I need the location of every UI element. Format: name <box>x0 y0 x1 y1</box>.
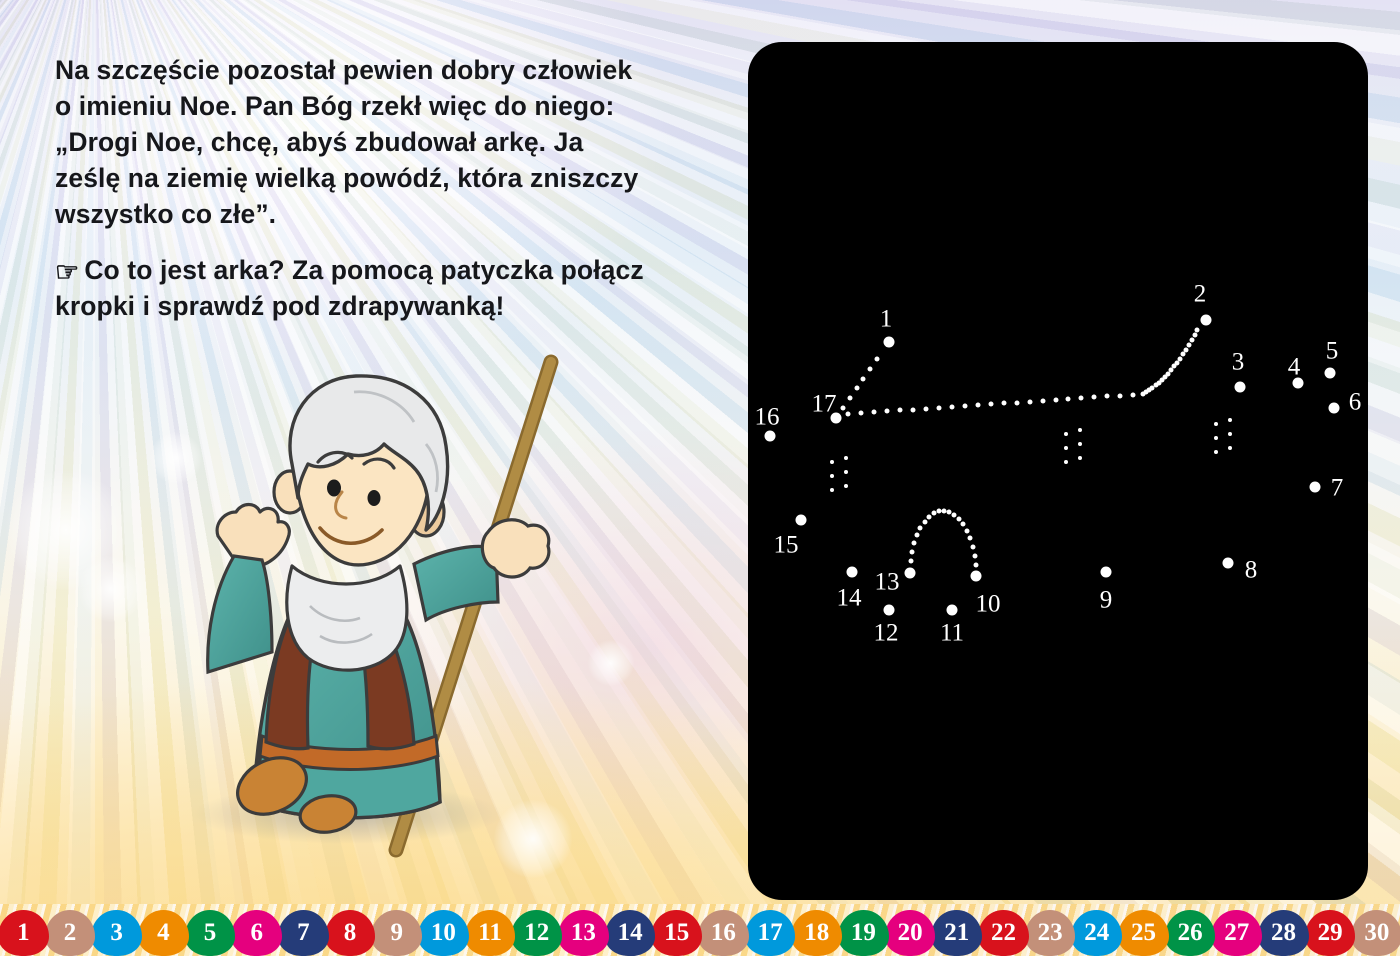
guide-path-dot <box>1027 399 1032 404</box>
story-paragraph-2: Co to jest arka? Za pomocą patyczka połą… <box>55 255 644 321</box>
guide-path-dot <box>1066 397 1071 402</box>
puzzle-dot-label-17: 17 <box>812 392 837 417</box>
guide-path-dot <box>1180 352 1185 357</box>
guide-path-dot <box>1177 356 1182 361</box>
guide-path-dot <box>912 540 917 545</box>
number-chip-26[interactable]: 26 <box>1165 910 1216 956</box>
puzzle-dot-label-2: 2 <box>1194 282 1207 307</box>
cluster-right-dot <box>1228 418 1232 422</box>
puzzle-dot-5[interactable] <box>1325 368 1336 379</box>
cluster-right-dot <box>1214 436 1218 440</box>
guide-path-dot <box>923 406 928 411</box>
cluster-right-dot <box>1214 422 1218 426</box>
cluster-middle-dot <box>1078 456 1082 460</box>
guide-path-dot <box>972 553 977 558</box>
guide-path-dot <box>909 549 914 554</box>
number-chip-18[interactable]: 18 <box>791 910 842 956</box>
noah-illustration <box>96 352 616 872</box>
guide-path-dot <box>858 411 863 416</box>
story-paragraph-1: Na szczęście pozostał pewien dobry człow… <box>55 52 655 232</box>
number-chip-3[interactable]: 3 <box>91 910 142 956</box>
guide-path-dot <box>847 396 852 401</box>
beard <box>287 566 407 670</box>
number-chip-29[interactable]: 29 <box>1305 910 1356 956</box>
number-chip-2[interactable]: 2 <box>45 910 96 956</box>
puzzle-dot-3[interactable] <box>1235 382 1246 393</box>
puzzle-dot-1[interactable] <box>884 337 895 348</box>
cluster-left-dot <box>844 484 848 488</box>
number-chip-4[interactable]: 4 <box>138 910 189 956</box>
number-chip-16[interactable]: 16 <box>698 910 749 956</box>
number-chip-13[interactable]: 13 <box>558 910 609 956</box>
number-chip-21[interactable]: 21 <box>931 910 982 956</box>
puzzle-dot-13[interactable] <box>905 568 916 579</box>
guide-path-dot <box>871 410 876 415</box>
number-chip-6[interactable]: 6 <box>231 910 282 956</box>
guide-path-dot <box>1131 392 1136 397</box>
puzzle-dot-15[interactable] <box>796 515 807 526</box>
number-chip-15[interactable]: 15 <box>651 910 702 956</box>
puzzle-dot-label-1: 1 <box>880 307 893 332</box>
guide-path-dot <box>897 408 902 413</box>
cluster-left-dot <box>830 474 834 478</box>
number-chip-27[interactable]: 27 <box>1211 910 1262 956</box>
guide-path-dot <box>968 536 973 541</box>
number-chip-24[interactable]: 24 <box>1071 910 1122 956</box>
guide-path-dot <box>927 514 932 519</box>
guide-path-dot <box>868 366 873 371</box>
cluster-middle-dot <box>1078 442 1082 446</box>
puzzle-dot-label-5: 5 <box>1326 339 1339 364</box>
cluster-left-dot <box>844 470 848 474</box>
number-chip-28[interactable]: 28 <box>1258 910 1309 956</box>
cluster-right-dot <box>1214 450 1218 454</box>
cluster-right-dot <box>1228 432 1232 436</box>
puzzle-dot-label-15: 15 <box>774 533 799 558</box>
cluster-right-dot <box>1228 446 1232 450</box>
guide-path-dot <box>1192 333 1197 338</box>
number-chip-30[interactable]: 30 <box>1351 910 1400 956</box>
pointing-hand-icon: ☞ <box>55 259 79 286</box>
number-chip-12[interactable]: 12 <box>511 910 562 956</box>
guide-path-dot <box>922 519 927 524</box>
guide-path-dot <box>875 356 880 361</box>
guide-path-dot <box>840 406 845 411</box>
puzzle-dot-label-13: 13 <box>875 570 900 595</box>
guide-path-dot <box>970 544 975 549</box>
story-text-block: Na szczęście pozostał pewien dobry człow… <box>55 52 655 324</box>
guide-path-dot <box>861 376 866 381</box>
guide-path-dot <box>1040 398 1045 403</box>
guide-path-dot <box>975 403 980 408</box>
guide-path-dot <box>846 412 851 417</box>
puzzle-dot-label-10: 10 <box>976 592 1001 617</box>
puzzle-dot-7[interactable] <box>1310 482 1321 493</box>
guide-path-dot <box>1053 397 1058 402</box>
number-chip-row: 1234567891011121314151617181920212223242… <box>0 910 1400 956</box>
guide-path-dot <box>973 563 978 568</box>
cluster-middle-dot <box>1064 432 1068 436</box>
guide-path-dot <box>988 402 993 407</box>
guide-path-dot <box>914 532 919 537</box>
guide-path-dot <box>961 522 966 527</box>
story-paragraph-2-wrapper: ☞Co to jest arka? Za pomocą patyczka poł… <box>55 252 655 324</box>
cluster-left-dot <box>844 456 848 460</box>
number-chip-17[interactable]: 17 <box>745 910 796 956</box>
puzzle-dot-label-8: 8 <box>1245 558 1258 583</box>
number-chip-23[interactable]: 23 <box>1025 910 1076 956</box>
cluster-middle-dot <box>1064 460 1068 464</box>
number-chip-11[interactable]: 11 <box>465 910 516 956</box>
guide-path-dot <box>936 405 941 410</box>
guide-path-dot <box>1001 401 1006 406</box>
guide-path-dot <box>1105 394 1110 399</box>
puzzle-dot-label-14: 14 <box>837 586 862 611</box>
puzzle-dot-label-9: 9 <box>1100 588 1113 613</box>
puzzle-dot-label-6: 6 <box>1349 390 1362 415</box>
guide-path-dot <box>1195 327 1200 332</box>
number-strip: 1234567891011121314151617181920212223242… <box>0 904 1400 956</box>
guide-path-dot <box>1186 343 1191 348</box>
puzzle-dot-2[interactable] <box>1201 315 1212 326</box>
guide-path-dot <box>965 528 970 533</box>
guide-path-dot <box>962 404 967 409</box>
puzzle-dot-label-11: 11 <box>940 621 964 646</box>
puzzle-dot-9[interactable] <box>1101 567 1112 578</box>
cluster-middle-dot <box>1078 428 1082 432</box>
guide-path-dot <box>854 386 859 391</box>
guide-path-dot <box>1183 347 1188 352</box>
puzzle-dot-10[interactable] <box>971 571 982 582</box>
number-chip-5[interactable]: 5 <box>185 910 236 956</box>
puzzle-dot-6[interactable] <box>1329 403 1340 414</box>
number-chip-8[interactable]: 8 <box>325 910 376 956</box>
puzzle-dot-label-4: 4 <box>1288 355 1301 380</box>
guide-path-dot <box>1092 395 1097 400</box>
number-chip-25[interactable]: 25 <box>1118 910 1169 956</box>
puzzle-dot-label-12: 12 <box>874 621 899 646</box>
guide-path-dot <box>918 525 923 530</box>
puzzle-dot-label-16: 16 <box>755 405 780 430</box>
number-chip-20[interactable]: 20 <box>885 910 936 956</box>
puzzle-dot-14[interactable] <box>847 567 858 578</box>
guide-path-dot <box>949 404 954 409</box>
number-chip-10[interactable]: 10 <box>418 910 469 956</box>
puzzle-dot-label-7: 7 <box>1331 476 1344 501</box>
cluster-middle-dot <box>1064 446 1068 450</box>
puzzle-dot-11[interactable] <box>947 605 958 616</box>
number-chip-14[interactable]: 14 <box>605 910 656 956</box>
puzzle-dot-8[interactable] <box>1223 558 1234 569</box>
guide-path-dot <box>1189 338 1194 343</box>
guide-path-dot <box>1079 396 1084 401</box>
guide-path-dot <box>1014 400 1019 405</box>
page-root: Na szczęście pozostał pewien dobry człow… <box>0 0 1400 956</box>
number-chip-22[interactable]: 22 <box>978 910 1029 956</box>
guide-path-dot <box>908 559 913 564</box>
cluster-left-dot <box>830 488 834 492</box>
number-chip-1[interactable]: 1 <box>0 910 49 956</box>
guide-path-dot <box>910 407 915 412</box>
guide-path-dot <box>956 516 961 521</box>
cluster-left-dot <box>830 460 834 464</box>
puzzle-dot-label-3: 3 <box>1232 350 1245 375</box>
guide-path-dot <box>1118 393 1123 398</box>
connect-the-dots-panel[interactable]: 1234567891011121314151617 <box>748 42 1368 900</box>
puzzle-dot-16[interactable] <box>765 431 776 442</box>
number-chip-9[interactable]: 9 <box>371 910 422 956</box>
number-chip-19[interactable]: 19 <box>838 910 889 956</box>
guide-path-dot <box>884 409 889 414</box>
number-chip-7[interactable]: 7 <box>278 910 329 956</box>
puzzle-dot-12[interactable] <box>884 605 895 616</box>
